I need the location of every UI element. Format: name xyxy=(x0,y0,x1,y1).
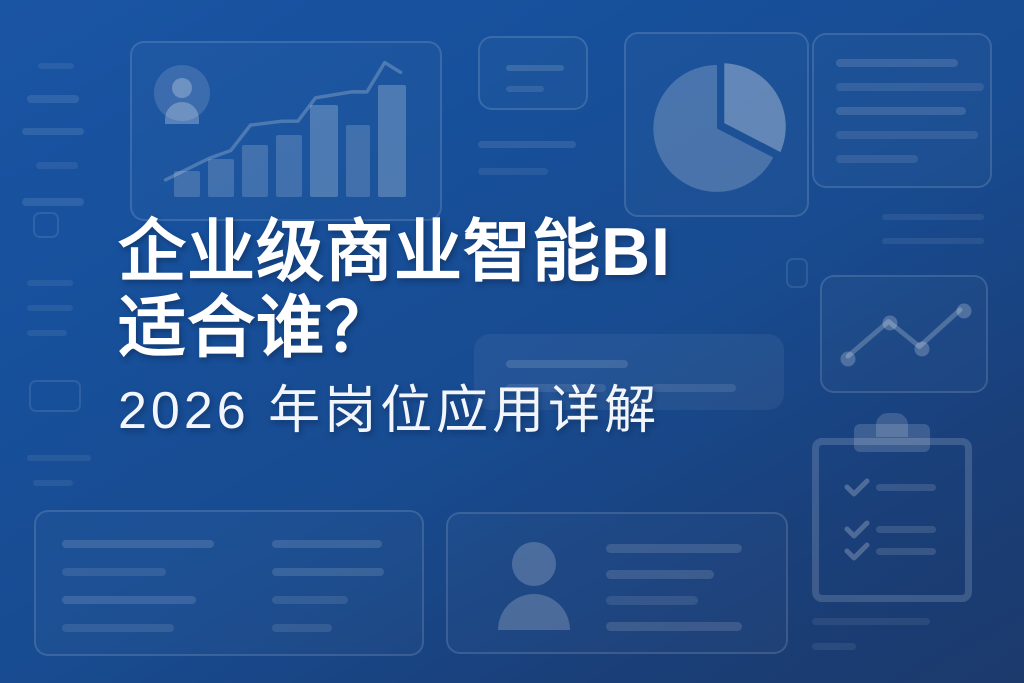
profile-card xyxy=(446,512,788,654)
placeholder-line xyxy=(36,162,78,169)
square-outline-icon xyxy=(29,380,81,412)
placeholder-line xyxy=(606,622,742,631)
list-card xyxy=(812,33,992,188)
placeholder-line xyxy=(478,141,576,148)
bar xyxy=(174,171,200,197)
placeholder-line xyxy=(27,95,79,103)
placeholder-line xyxy=(27,455,91,461)
placeholder-line xyxy=(836,107,966,115)
placeholder-line xyxy=(272,568,384,576)
checklist-item-line xyxy=(876,526,936,533)
page-subtitle: 2026 年岗位应用详解 xyxy=(118,380,878,442)
placeholder-line xyxy=(812,618,930,625)
page-title-line-1: 企业级商业智能BI xyxy=(118,214,878,290)
clipboard-body xyxy=(812,438,972,602)
user-avatar-icon xyxy=(494,542,574,628)
placeholder-line xyxy=(22,128,84,135)
check-icon xyxy=(844,478,870,500)
placeholder-line xyxy=(62,540,214,548)
bar xyxy=(208,159,234,197)
bar xyxy=(310,105,338,197)
placeholder-line xyxy=(836,155,918,163)
placeholder-line xyxy=(62,596,196,604)
placeholder-line xyxy=(33,480,73,486)
placeholder-line xyxy=(62,568,166,576)
placeholder-line xyxy=(506,86,544,92)
placeholder-line xyxy=(27,330,67,336)
placeholder-line xyxy=(478,168,548,175)
placeholder-line xyxy=(606,570,714,579)
checklist-clipboard xyxy=(812,422,972,602)
placeholder-line xyxy=(606,544,742,553)
placeholder-line xyxy=(506,65,564,71)
checklist-item-line xyxy=(876,484,936,491)
bar xyxy=(242,145,268,197)
placeholder-line xyxy=(38,63,74,69)
placeholder-line xyxy=(882,214,984,220)
placeholder-line xyxy=(836,83,984,91)
placeholder-line xyxy=(27,305,73,311)
bar-chart-card xyxy=(130,41,442,221)
check-icon xyxy=(844,520,870,542)
clipboard-knob xyxy=(876,413,908,437)
placeholder-line xyxy=(812,643,856,650)
bar xyxy=(346,125,370,197)
poster-canvas: 企业级商业智能BI 适合谁？ 2026 年岗位应用详解 xyxy=(0,0,1024,683)
data-point xyxy=(915,342,930,357)
data-point xyxy=(883,316,898,331)
placeholder-line xyxy=(882,238,984,244)
two-column-text-card xyxy=(34,510,424,656)
placeholder-line xyxy=(272,624,332,632)
pie-chart-card xyxy=(624,32,809,217)
text-card xyxy=(478,36,588,110)
placeholder-line xyxy=(62,624,174,632)
title-block: 企业级商业智能BI 适合谁？ 2026 年岗位应用详解 xyxy=(118,214,878,442)
bar xyxy=(276,135,302,197)
placeholder-line xyxy=(836,131,978,139)
placeholder-line xyxy=(836,59,958,67)
pie-chart xyxy=(642,56,792,201)
data-point xyxy=(957,304,972,319)
placeholder-line xyxy=(27,280,73,286)
placeholder-line xyxy=(22,198,84,206)
placeholder-line xyxy=(272,540,382,548)
bar xyxy=(378,85,406,197)
checklist-item-line xyxy=(876,548,936,555)
placeholder-line xyxy=(606,596,698,605)
square-outline-icon xyxy=(33,212,59,238)
page-title-line-2: 适合谁？ xyxy=(118,290,878,366)
placeholder-line xyxy=(272,596,348,604)
check-icon xyxy=(844,542,870,564)
